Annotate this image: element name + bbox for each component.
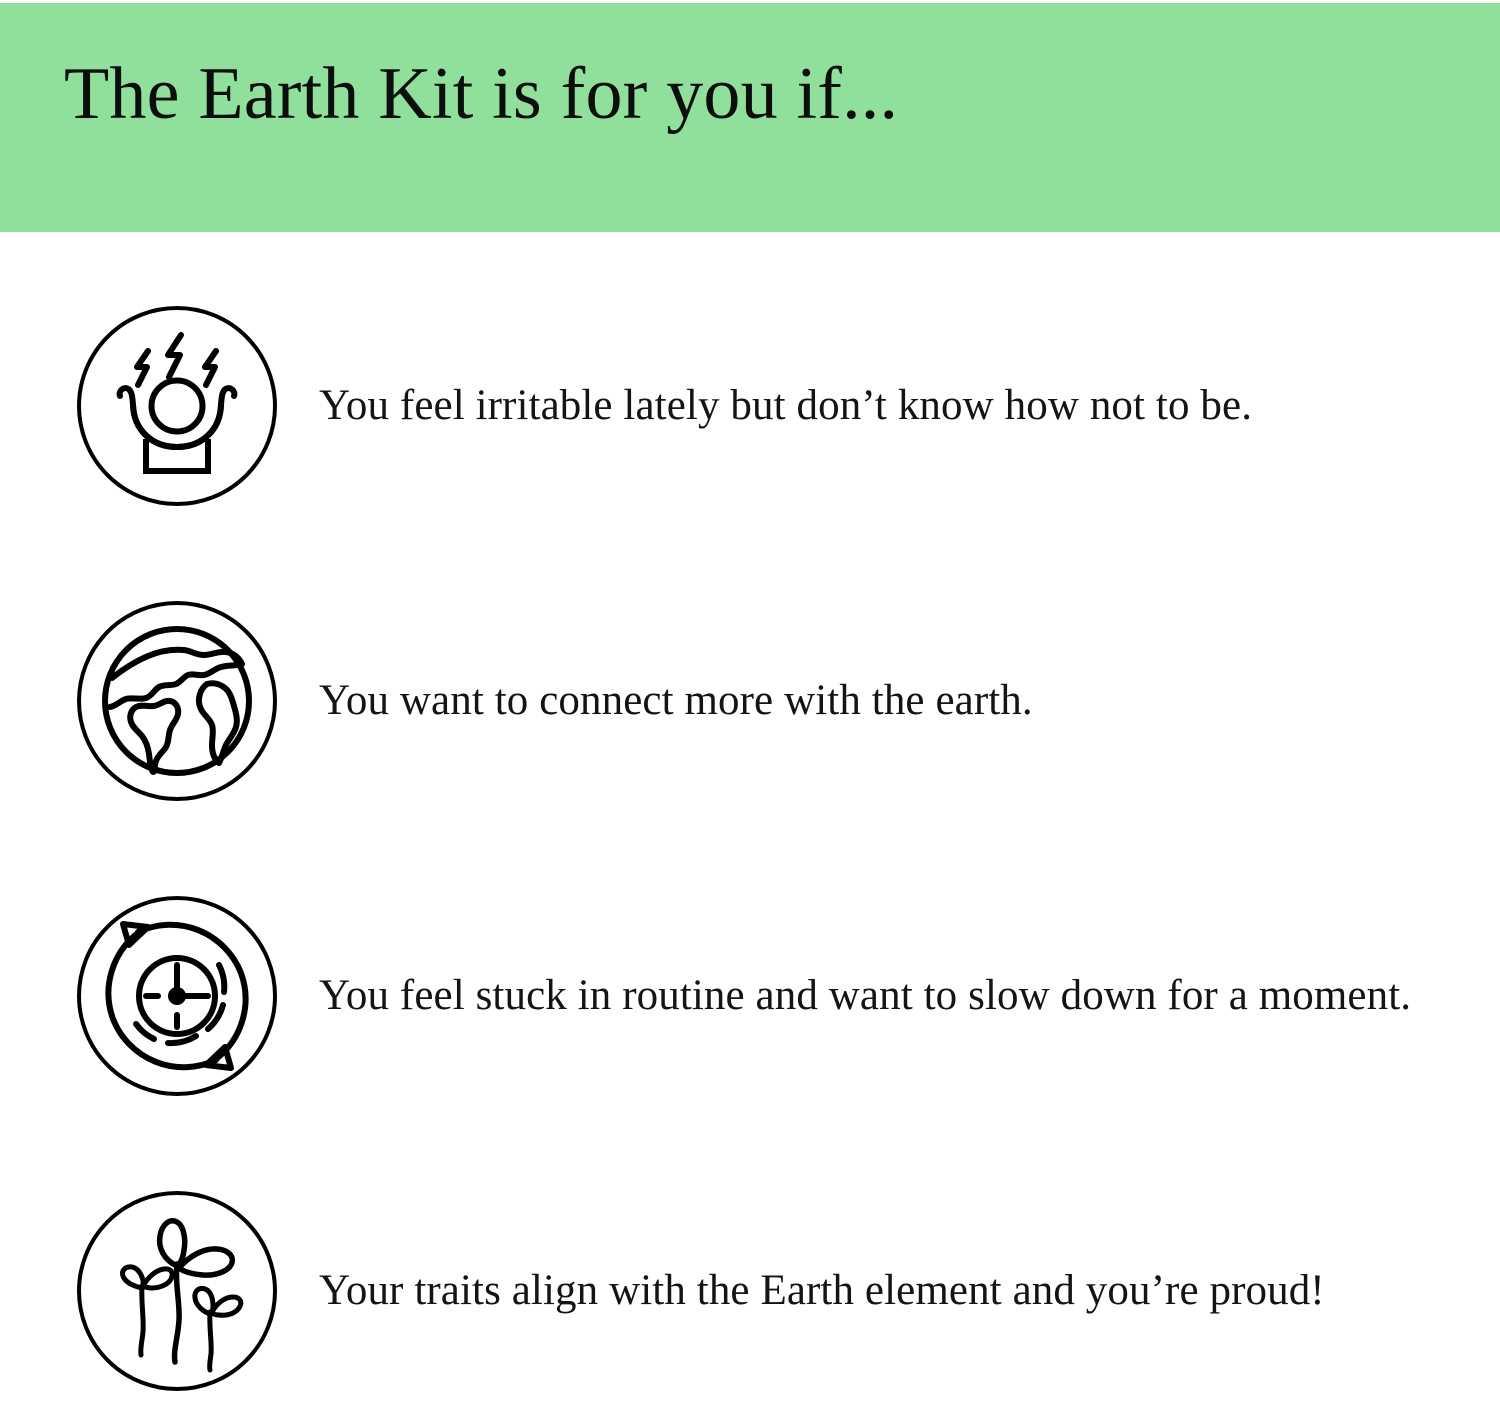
list-item: You feel stuck in routine and want to sl…	[0, 895, 1500, 1095]
list-item-label: Your traits align with the Earth element…	[319, 1190, 1325, 1392]
stressed-person-icon	[76, 305, 278, 507]
list-item: You feel irritable lately but don’t know…	[0, 305, 1500, 505]
globe-earth-icon	[76, 600, 278, 802]
header-band: The Earth Kit is for you if...	[0, 3, 1500, 232]
list-item-label: You feel irritable lately but don’t know…	[319, 305, 1252, 507]
sprouts-icon	[76, 1190, 278, 1392]
page-title: The Earth Kit is for you if...	[64, 57, 898, 131]
list-item-label: You want to connect more with the earth.	[319, 600, 1033, 802]
list-item-label: You feel stuck in routine and want to sl…	[319, 895, 1411, 1097]
list-item: Your traits align with the Earth element…	[0, 1190, 1500, 1390]
list-item: You want to connect more with the earth.	[0, 600, 1500, 800]
clock-cycle-icon	[76, 895, 278, 1097]
